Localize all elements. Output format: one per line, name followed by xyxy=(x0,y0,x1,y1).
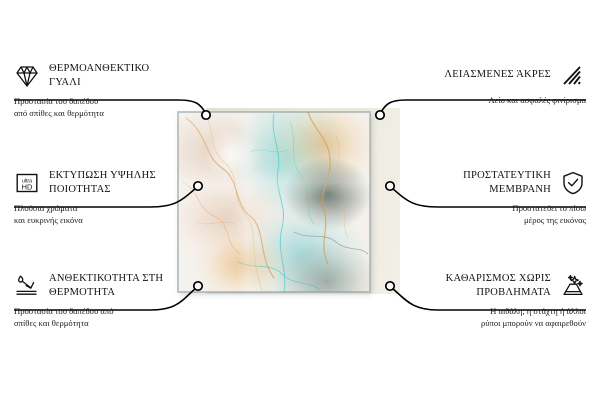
bevelled-edge-icon xyxy=(560,62,586,88)
ultra-hd-icon: ultra HD xyxy=(14,170,40,196)
feature-description: Προστασία του δαπέδου από σπίθες και θερ… xyxy=(14,306,182,329)
glass-reflection xyxy=(178,112,370,292)
shield-check-icon xyxy=(560,170,586,196)
desc-line-2: και ευκρινής εικόνα xyxy=(14,215,182,227)
feature-description: Προστασία του δαπέδου από σπίθες και θερ… xyxy=(14,96,182,119)
feature-title: ΠΡΟΣΤΑΤΕΥΤΙΚΗ ΜΕΜΒΡΑΝΗ xyxy=(418,169,551,196)
feature-title: ΘΕΡΜΟΑΝΘΕΚΤΙΚΟ ΓΥΑΛΙ xyxy=(49,62,182,89)
infographic-stage: ΘΕΡΜΟΑΝΘΕΚΤΙΚΟ ΓΥΑΛΙ Προστασία του δαπέδ… xyxy=(0,0,600,400)
feature-heat-durability: ΑΝΘΕΚΤΙΚΟΤΗΤΑ ΣΤΗ ΘΕΡΜΟΤΗΤΑ Προστασία το… xyxy=(14,272,182,329)
desc-line-1: Προστασία του δαπέδου xyxy=(14,96,182,108)
desc-line-1: Πλούσια χρώματα xyxy=(14,203,182,215)
feature-smooth-edges: ΛΕΙΑΣΜΕΝΕΣ ΆΚΡΕΣ Λείο και ασφαλές φινίρι… xyxy=(418,62,586,107)
feature-easy-cleaning: ΚΑΘΑΡΙΣΜΟΣ ΧΩΡΙΣ ΠΡΟΒΛΗΜΑΤΑ Η αιθάλη, η … xyxy=(418,272,586,329)
desc-line-1: Προστασία του δαπέδου από xyxy=(14,306,182,318)
feature-title: ΕΚΤΥΠΩΣΗ ΥΨΗΛΗΣ ΠΟΙΟΤΗΤΑΣ xyxy=(49,169,182,196)
feature-protective-membrane: ΠΡΟΣΤΑΤΕΥΤΙΚΗ ΜΕΜΒΡΑΝΗ Προστατεύει το πί… xyxy=(418,169,586,226)
product-glass-panel xyxy=(178,112,370,292)
feature-heat-resistant-glass: ΘΕΡΜΟΑΝΘΕΚΤΙΚΟ ΓΥΑΛΙ Προστασία του δαπέδ… xyxy=(14,62,182,119)
feature-description: Προστατεύει το πίσω μέρος της εικόνας xyxy=(418,203,586,226)
feature-title: ΚΑΘΑΡΙΣΜΟΣ ΧΩΡΙΣ ΠΡΟΒΛΗΜΑΤΑ xyxy=(418,272,551,299)
feature-title: ΑΝΘΕΚΤΙΚΟΤΗΤΑ ΣΤΗ ΘΕΡΜΟΤΗΤΑ xyxy=(49,272,182,299)
feature-description: Πλούσια χρώματα και ευκρινής εικόνα xyxy=(14,203,182,226)
heat-resistance-icon xyxy=(14,273,40,299)
desc-line-2: από σπίθες και θερμότητα xyxy=(14,108,182,120)
desc-line-1: Η αιθάλη, η στάχτη ή άλλοι xyxy=(418,306,586,318)
desc-line-1: Λείο και ασφαλές φινίρισμα xyxy=(418,95,586,107)
sparkle-clean-icon xyxy=(560,273,586,299)
feature-description: Η αιθάλη, η στάχτη ή άλλοι ρύποι μπορούν… xyxy=(418,306,586,329)
desc-line-2: μέρος της εικόνας xyxy=(418,215,586,227)
desc-line-1: Προστατεύει το πίσω xyxy=(418,203,586,215)
svg-text:HD: HD xyxy=(22,182,33,191)
feature-high-quality-print: ultra HD ΕΚΤΥΠΩΣΗ ΥΨΗΛΗΣ ΠΟΙΟΤΗΤΑΣ Πλούσ… xyxy=(14,169,182,226)
feature-description: Λείο και ασφαλές φινίρισμα xyxy=(418,95,586,107)
diamond-icon xyxy=(14,63,40,89)
desc-line-2: ρύποι μπορούν να αφαιρεθούν xyxy=(418,318,586,330)
feature-title: ΛΕΙΑΣΜΕΝΕΣ ΆΚΡΕΣ xyxy=(444,68,551,82)
desc-line-2: σπίθες και θερμότητα xyxy=(14,318,182,330)
product-image xyxy=(178,108,400,296)
